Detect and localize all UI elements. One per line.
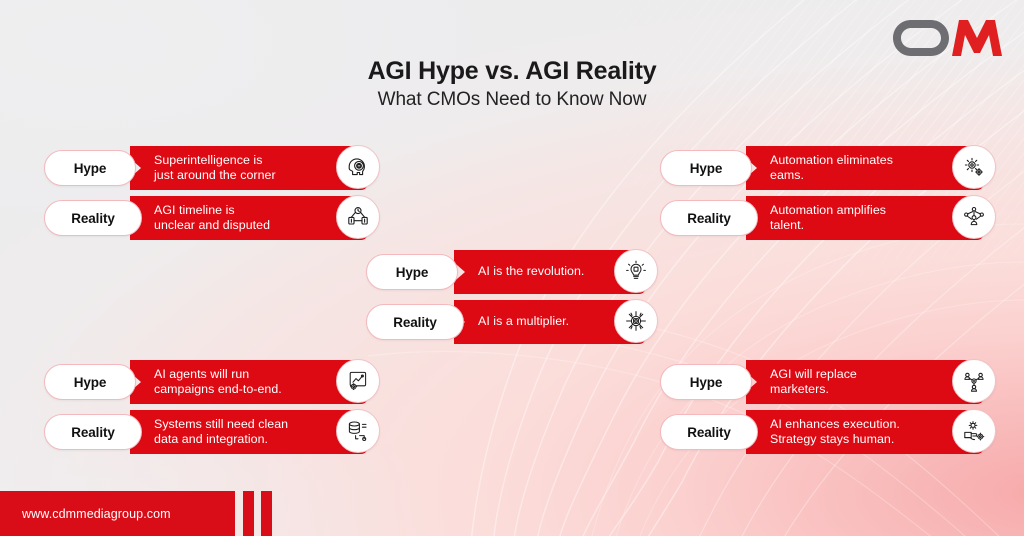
reality-label-text: Reality — [393, 315, 437, 330]
people-network-icon — [952, 359, 996, 403]
hype-label-text: Hype — [74, 375, 107, 390]
group-bottom-left: AI agents will run campaigns end-to-end.… — [44, 360, 380, 456]
statement-bubble: Automation amplifies talent. — [746, 196, 984, 240]
page-subtitle: What CMOs Need to Know Now — [0, 89, 1024, 111]
footer-bar: www.cdmmediagroup.com — [0, 491, 235, 536]
statement-text: AI is the revolution. — [478, 264, 584, 279]
title-block: AGI Hype vs. AGI Reality What CMOs Need … — [0, 57, 1024, 111]
hype-label-pill: Hype — [660, 150, 752, 186]
talent-network-icon — [952, 195, 996, 239]
statement-text: AGI will replace marketers. — [770, 367, 857, 397]
reality-label-pill: Reality — [660, 414, 758, 450]
hype-reality-row: Superintelligence is just around the cor… — [44, 146, 380, 190]
database-icon — [336, 409, 380, 453]
hand-gear-icon — [952, 409, 996, 453]
hype-label-pill: Hype — [44, 150, 136, 186]
hype-reality-row: Automation amplifies talent. Reality — [660, 196, 996, 240]
hype-reality-row: AI agents will run campaigns end-to-end.… — [44, 360, 380, 404]
hype-reality-row: AI is a multiplier. Reality — [366, 300, 658, 344]
reality-label-pill: Reality — [44, 200, 142, 236]
hype-reality-row: AGI timeline is unclear and disputed Rea… — [44, 196, 380, 240]
statement-text: Automation amplifies talent. — [770, 203, 886, 233]
reality-label-text: Reality — [71, 425, 115, 440]
reality-label-pill: Reality — [660, 200, 758, 236]
group-top-left: Superintelligence is just around the cor… — [44, 146, 380, 242]
infographic-canvas: AGI Hype vs. AGI Reality What CMOs Need … — [0, 0, 1024, 536]
hype-label-text: Hype — [74, 161, 107, 176]
gears-icon — [952, 145, 996, 189]
hype-label-pill: Hype — [366, 254, 458, 290]
statement-bubble: Automation eliminates eams. — [746, 146, 984, 190]
reality-label-pill: Reality — [44, 414, 142, 450]
group-center: AI is the revolution. Hype AI is a multi… — [366, 250, 658, 346]
hype-reality-row: Automation eliminates eams. Hype — [660, 146, 996, 190]
website-url[interactable]: www.cdmmediagroup.com — [0, 507, 171, 521]
head-chip-icon — [336, 145, 380, 189]
statement-text: AI is a multiplier. — [478, 314, 569, 329]
group-top-right: Automation eliminates eams. Hype Automat… — [660, 146, 996, 242]
statement-text: AI enhances execution. Strategy stays hu… — [770, 417, 900, 447]
hype-reality-row: AI is the revolution. Hype — [366, 250, 658, 294]
footer-accent-bar-2 — [261, 491, 272, 536]
chart-settings-icon — [336, 359, 380, 403]
hype-reality-row: AI enhances execution. Strategy stays hu… — [660, 410, 996, 454]
group-bottom-right: AGI will replace marketers. Hype — [660, 360, 996, 456]
hype-label-pill: Hype — [44, 364, 136, 400]
gear-chip-icon — [614, 299, 658, 343]
statement-bubble: AGI will replace marketers. — [746, 360, 984, 404]
reality-label-text: Reality — [687, 211, 731, 226]
footer-accent-bar-1 — [243, 491, 254, 536]
page-title: AGI Hype vs. AGI Reality — [0, 57, 1024, 85]
statement-bubble: Superintelligence is just around the cor… — [130, 146, 368, 190]
hype-label-pill: Hype — [660, 364, 752, 400]
statement-text: AGI timeline is unclear and disputed — [154, 203, 270, 233]
hype-label-text: Hype — [690, 161, 723, 176]
statement-bubble: AGI timeline is unclear and disputed — [130, 196, 368, 240]
statement-bubble: AI enhances execution. Strategy stays hu… — [746, 410, 984, 454]
reality-label-text: Reality — [687, 425, 731, 440]
hype-reality-row: Systems still need clean data and integr… — [44, 410, 380, 454]
timeline-clock-icon — [336, 195, 380, 239]
reality-label-text: Reality — [71, 211, 115, 226]
statement-bubble: AI agents will run campaigns end-to-end. — [130, 360, 368, 404]
hype-label-text: Hype — [690, 375, 723, 390]
hype-label-text: Hype — [396, 265, 429, 280]
statement-text: Systems still need clean data and integr… — [154, 417, 288, 447]
lightbulb-idea-icon — [614, 249, 658, 293]
statement-text: AI agents will run campaigns end-to-end. — [154, 367, 282, 397]
statement-bubble: Systems still need clean data and integr… — [130, 410, 368, 454]
statement-text: Automation eliminates eams. — [770, 153, 893, 183]
hype-reality-row: AGI will replace marketers. Hype — [660, 360, 996, 404]
statement-text: Superintelligence is just around the cor… — [154, 153, 276, 183]
reality-label-pill: Reality — [366, 304, 464, 340]
